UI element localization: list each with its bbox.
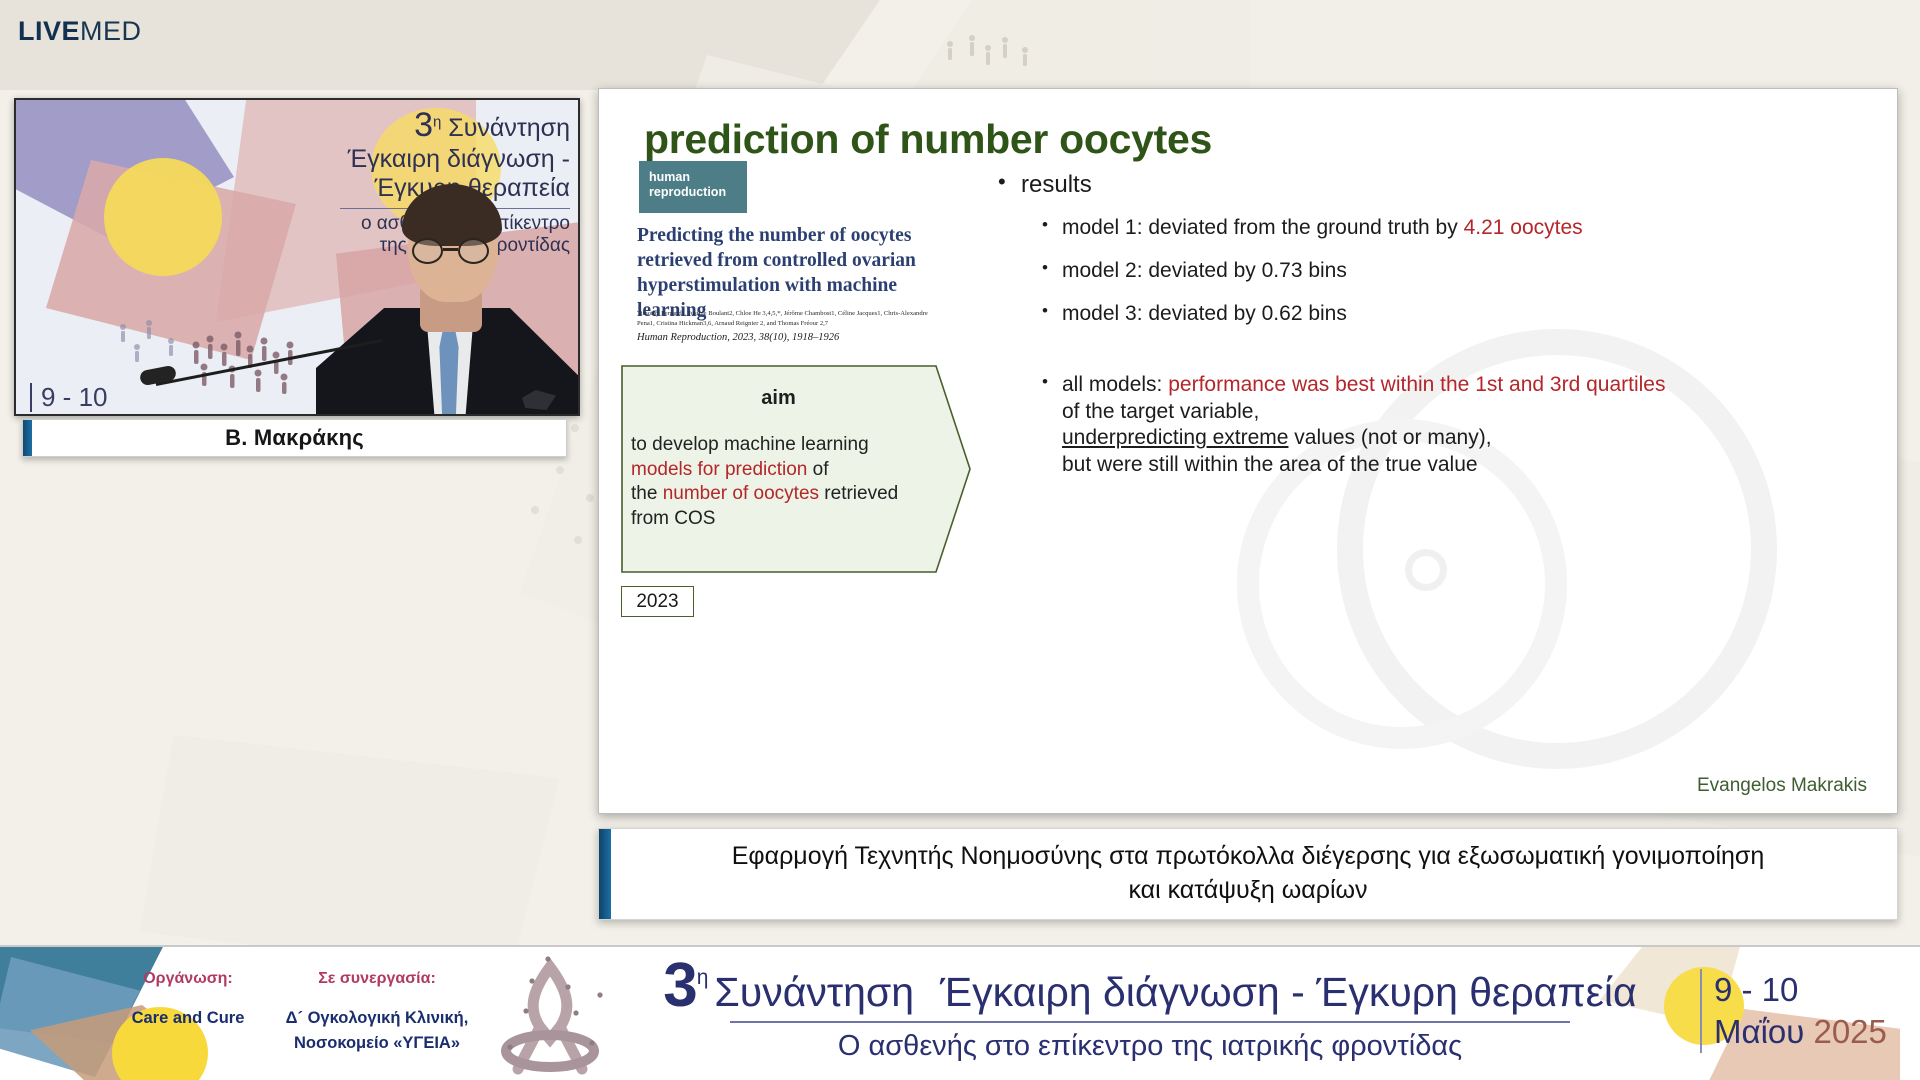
bg-shape-lower-left (140, 735, 560, 975)
result-summary-line2: of the target variable, (1062, 399, 1874, 426)
result-item-model-3: model 3: deviated by 0.62 bins (994, 301, 1874, 328)
bg-crowd-figures-icon (930, 30, 1050, 90)
footer-date-month: Μαΐου (1714, 1013, 1813, 1050)
result-summary: all models: performance was best within … (994, 372, 1874, 480)
aim-line3-b: retrieved (819, 483, 898, 504)
journal-logo-line2: reproduction (649, 185, 737, 200)
result-item-model-2: model 2: deviated by 0.73 bins (994, 258, 1874, 285)
speaker-name-text: Β. Μακράκης (225, 425, 364, 451)
session-title-line2: και κατάψυξη ωαρίων (1128, 876, 1367, 904)
backdrop-event-word: Συνάντηση (448, 114, 570, 142)
aim-box-content: aim to develop machine learning models f… (621, 365, 971, 573)
aim-line1: to develop machine learning (631, 434, 869, 455)
aim-line3-a: the (631, 483, 663, 504)
result-item-2-text: model 2: deviated by 0.73 bins (1062, 259, 1347, 282)
footer-event-branding: 3η Συνάντηση Έγκαιρη διάγνωση - Έγκυρη θ… (650, 955, 1650, 1063)
result-item-1-highlight: 4.21 oocytes (1464, 216, 1583, 239)
logo-live-text: LIVE (18, 16, 80, 46)
footer-divider (730, 1021, 1570, 1023)
footer-cooperation-line2: Νοσοκομείο «ΥΓΕΙΑ» (262, 1031, 492, 1056)
footer-event-number: 3 (663, 955, 696, 1017)
results-heading: results (994, 171, 1874, 199)
result-summary-underlined: underpredicting extreme (1062, 426, 1288, 449)
footer-organizer-label: Οργάνωση: (128, 969, 248, 988)
result-item-3-text: model 3: deviated by 0.62 bins (1062, 302, 1347, 325)
session-title-line1: Εφαρμογή Τεχνητής Νοημοσύνης στα πρωτόκο… (732, 842, 1765, 870)
year-badge: 2023 (621, 586, 694, 617)
human-reproduction-logo: human reproduction (639, 161, 747, 213)
backdrop-crowd-icon (186, 305, 316, 395)
backdrop-skier-icon (111, 315, 191, 365)
backdrop-event-number: 3 (414, 106, 433, 144)
footer-cooperation-line1: Δ´ Ογκολογική Κλινική, (262, 1006, 492, 1031)
livemed-logo[interactable]: LIVEMED (18, 18, 142, 45)
speaker-hair (402, 184, 502, 246)
footer-event-word: Συνάντηση (714, 972, 914, 1013)
footer-organizer: Οργάνωση: Care and Cure (128, 969, 248, 1031)
session-title-text: Εφαρμογή Τεχνητής Νοημοσύνης στα πρωτόκο… (732, 840, 1765, 908)
backdrop-date: 9 - 10 (30, 383, 108, 412)
year-badge-text: 2023 (636, 591, 678, 613)
event-footer-banner: Οργάνωση: Care and Cure Σε συνεργασία: Δ… (0, 945, 1920, 1080)
speaker-name-bar: Β. Μακράκης (22, 419, 567, 457)
footer-date-year: 2025 (1813, 1013, 1886, 1050)
eyeglasses-right-icon (458, 238, 489, 264)
footer-cooperation-label: Σε συνεργασία: (262, 969, 492, 988)
footer-date-month-year: Μαΐου 2025 (1714, 1011, 1900, 1053)
footer-event-tagline: Έγκαιρη διάγνωση - Έγκυρη θεραπεία (940, 972, 1637, 1013)
result-summary-line3-rest: values (not or many), (1288, 426, 1491, 449)
journal-authors: Timothy Ferrand1, Justine Boulant2, Chlo… (637, 309, 929, 329)
result-item-1-text: model 1: deviated from the ground truth … (1062, 216, 1464, 239)
result-item-model-1: model 1: deviated from the ground truth … (994, 215, 1874, 242)
video-frame: 3η Συνάντηση Έγκαιρη διάγνωση - Έγκυρη θ… (16, 100, 578, 414)
result-summary-lead: all models: (1062, 373, 1168, 396)
journal-citation: Human Reproduction, 2023, 38(10), 1918–1… (637, 332, 937, 343)
backdrop-event-ordinal: η (433, 114, 441, 131)
backdrop-circle-yellow-left (104, 158, 222, 276)
aim-line4: from COS (631, 508, 715, 529)
presentation-slide[interactable]: prediction of number oocytes human repro… (598, 88, 1898, 814)
slide-watermark-dot (1405, 549, 1447, 591)
aim-line3-highlight: number of oocytes (663, 483, 819, 504)
journal-logo-line1: human (649, 170, 737, 185)
eyeglasses-bridge-icon (443, 248, 458, 251)
session-title-bar: Εφαρμογή Τεχνητής Νοημοσύνης στα πρωτόκο… (598, 828, 1898, 920)
aim-heading: aim (621, 387, 936, 410)
footer-event-ordinal: η (697, 967, 709, 988)
slide-author-signature: Evangelos Makrakis (1697, 775, 1867, 797)
footer-event-date: 9 - 10 Μαΐου 2025 (1700, 969, 1900, 1053)
speaker-figure (316, 158, 580, 416)
result-summary-highlight: performance was best within the 1st and … (1168, 373, 1665, 396)
eyeglasses-left-icon (412, 238, 443, 264)
aim-body-text: to develop machine learning models for p… (631, 433, 931, 531)
aim-line2-highlight: models for prediction (631, 459, 807, 480)
speaker-video-player[interactable]: 3η Συνάντηση Έγκαιρη διάγνωση - Έγκυρη θ… (14, 98, 580, 416)
footer-cooperation-value: Δ´ Ογκολογική Κλινική, Νοσοκομείο «ΥΓΕΙΑ… (262, 1006, 492, 1056)
microphone-icon (139, 365, 177, 387)
logo-med-text: MED (80, 16, 142, 46)
footer-cooperation: Σε συνεργασία: Δ´ Ογκολογική Κλινική, Νο… (262, 969, 492, 1056)
awareness-ribbon-icon (470, 951, 630, 1079)
footer-event-subtitle: Ο ασθενής στο επίκεντρο της ιατρικής φρο… (650, 1030, 1650, 1063)
footer-organizer-value: Care and Cure (128, 1006, 248, 1031)
footer-event-line1: 3η Συνάντηση Έγκαιρη διάγνωση - Έγκυρη θ… (650, 955, 1650, 1017)
footer-date-day: 9 - 10 (1714, 969, 1900, 1011)
results-section: results model 1: deviated from the groun… (994, 171, 1874, 479)
result-summary-line4: but were still within the area of the tr… (1062, 452, 1874, 479)
aim-line2-rest: of (807, 459, 828, 480)
slide-title: prediction of number oocytes (644, 116, 1212, 163)
